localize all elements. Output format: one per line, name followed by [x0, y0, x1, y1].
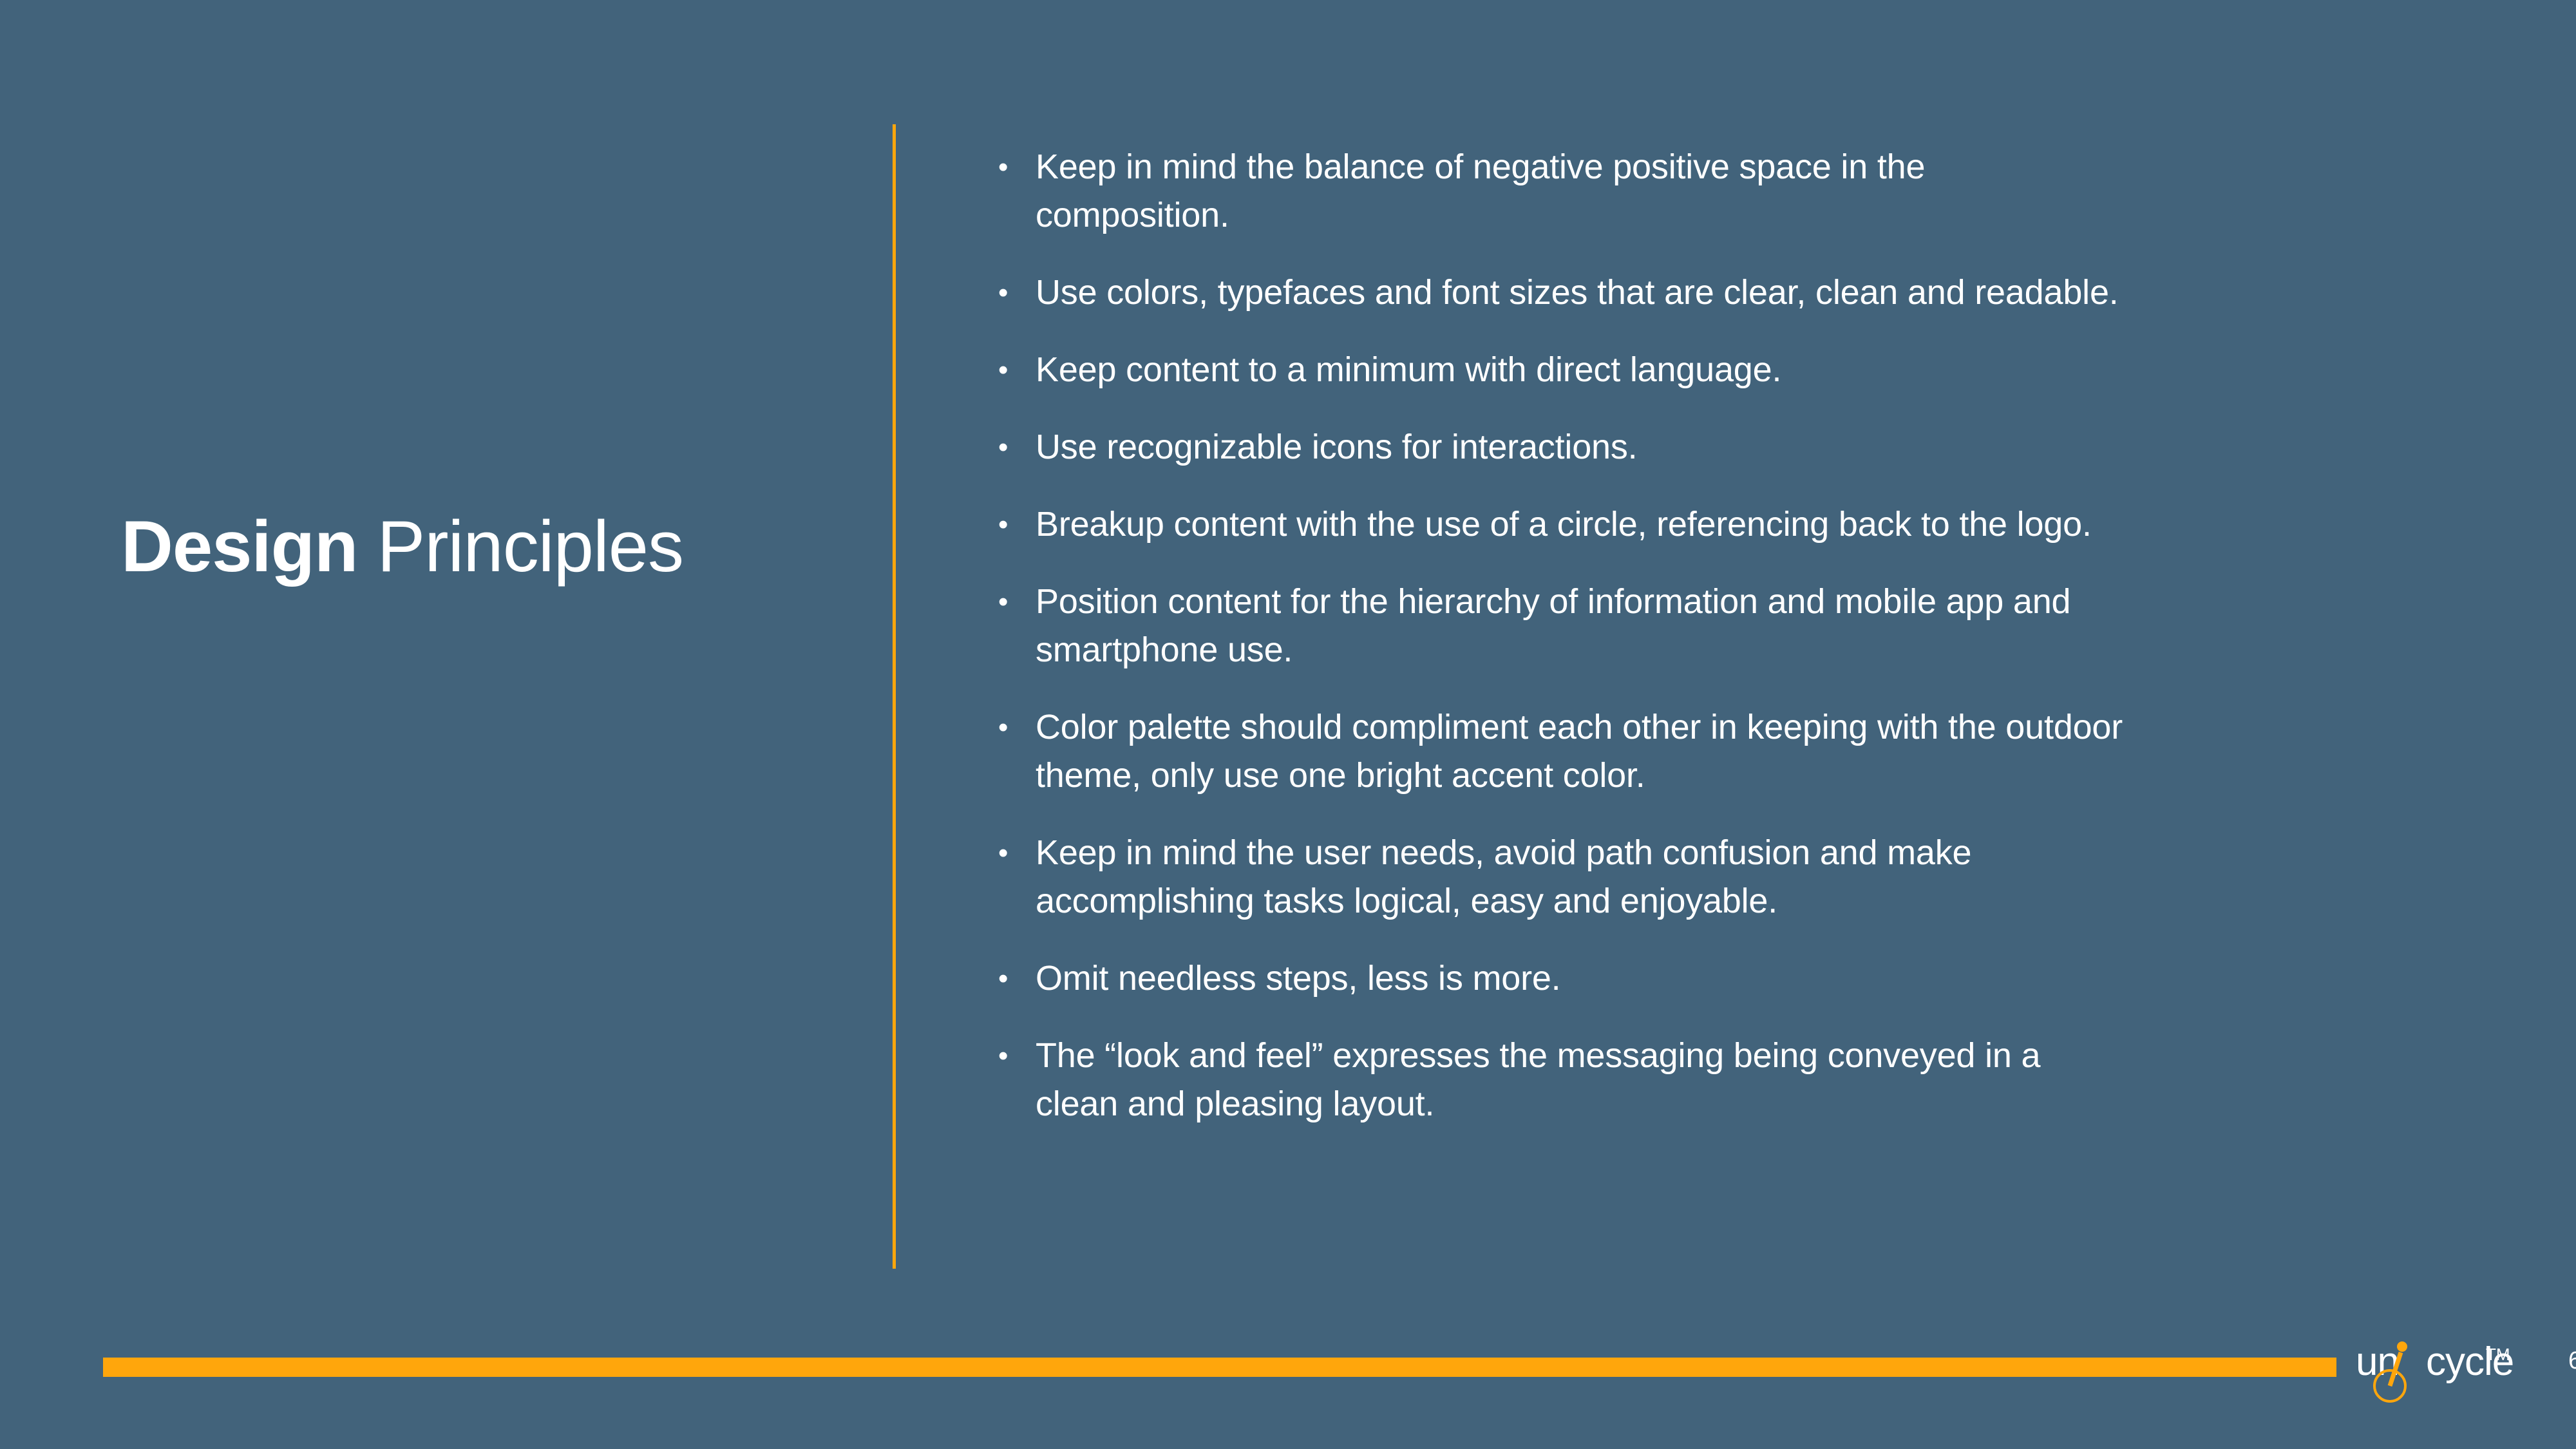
footer-logo-group: uncycle TM 6 — [2356, 1342, 2576, 1400]
unicycle-logo: uncycle TM — [2356, 1342, 2523, 1400]
bullet-marker-icon: • — [993, 346, 1036, 394]
list-item: • Position content for the hierarchy of … — [993, 578, 2126, 674]
bullet-marker-icon: • — [993, 954, 1036, 1003]
unicycle-mark-icon — [2382, 1340, 2439, 1404]
bullet-marker-icon: • — [993, 703, 1036, 752]
list-item-text: Breakup content with the use of a circle… — [1036, 500, 2126, 549]
list-item: • Keep content to a minimum with direct … — [993, 346, 2126, 394]
bullet-marker-icon: • — [993, 500, 1036, 549]
trademark-symbol: TM — [2486, 1346, 2510, 1363]
bullet-marker-icon: • — [993, 578, 1036, 626]
list-item-text: Color palette should compliment each oth… — [1036, 703, 2126, 800]
page-number: 6 — [2568, 1349, 2576, 1373]
list-item: • Use recognizable icons for interaction… — [993, 423, 2126, 471]
footer-accent-bar — [103, 1358, 2336, 1377]
list-item-text: The “look and feel” expresses the messag… — [1036, 1032, 2126, 1128]
list-item: • Omit needless steps, less is more. — [993, 954, 2126, 1003]
unicycle-stem-icon — [2390, 1352, 2401, 1386]
bullet-marker-icon: • — [993, 829, 1036, 877]
unicycle-dot-icon — [2397, 1341, 2407, 1352]
list-item-text: Use colors, typefaces and font sizes tha… — [1036, 269, 2126, 317]
list-item-text: Keep in mind the user needs, avoid path … — [1036, 829, 2126, 925]
page-title-light: Principles — [357, 506, 683, 587]
principles-list: • Keep in mind the balance of negative p… — [993, 143, 2126, 1128]
list-item-text: Keep in mind the balance of negative pos… — [1036, 143, 2126, 240]
page-title-strong: Design — [121, 506, 357, 587]
list-item: • Keep in mind the balance of negative p… — [993, 143, 2126, 240]
bullet-marker-icon: • — [993, 269, 1036, 317]
vertical-divider — [893, 124, 896, 1269]
list-item: • Color palette should compliment each o… — [993, 703, 2126, 800]
bullet-marker-icon: • — [993, 1032, 1036, 1080]
page-title: Design Principles — [121, 509, 829, 585]
list-item-text: Keep content to a minimum with direct la… — [1036, 346, 2126, 394]
bullet-marker-icon: • — [993, 423, 1036, 471]
list-item-text: Use recognizable icons for interactions. — [1036, 423, 2126, 471]
list-item: • The “look and feel” expresses the mess… — [993, 1032, 2126, 1128]
list-item: • Keep in mind the user needs, avoid pat… — [993, 829, 2126, 925]
list-item: • Breakup content with the use of a circ… — [993, 500, 2126, 549]
bullet-marker-icon: • — [993, 143, 1036, 191]
list-item-text: Omit needless steps, less is more. — [1036, 954, 2126, 1003]
list-item: • Use colors, typefaces and font sizes t… — [993, 269, 2126, 317]
list-item-text: Position content for the hierarchy of in… — [1036, 578, 2126, 674]
slide-canvas: Design Principles • Keep in mind the bal… — [0, 0, 2576, 1449]
